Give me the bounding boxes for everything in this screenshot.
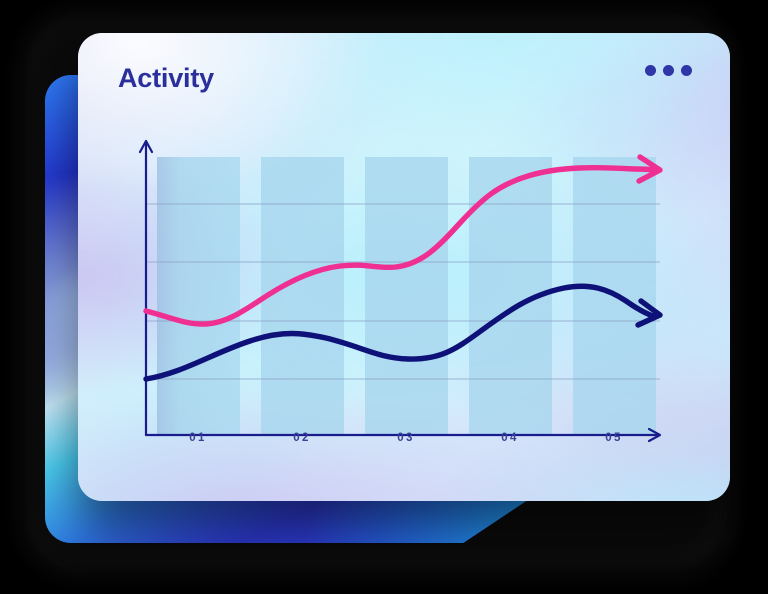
x-tick-label-01: 01 <box>189 432 207 444</box>
composition-stage: Activity <box>0 0 768 594</box>
x-tick-label-02: 02 <box>293 432 311 444</box>
x-axis-labels: 01 02 03 04 05 <box>78 33 730 501</box>
x-tick-label-05: 05 <box>605 432 623 444</box>
activity-card: Activity <box>78 33 730 501</box>
x-tick-label-03: 03 <box>397 432 415 444</box>
x-tick-label-04: 04 <box>501 432 519 444</box>
